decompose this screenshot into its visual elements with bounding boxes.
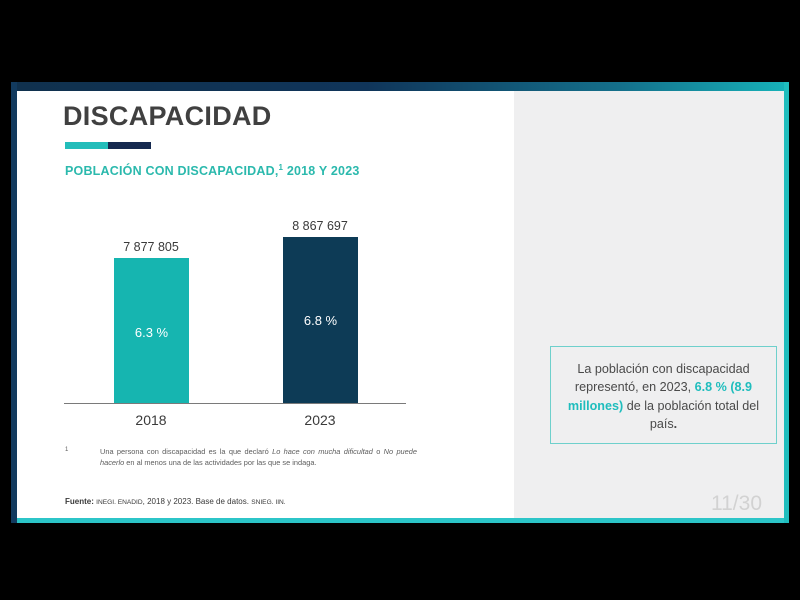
bar-percent-label-2023: 6.8 % <box>283 313 358 328</box>
bar-value-label-2023: 8 867 697 <box>265 219 375 233</box>
source-line: Fuente: INEGI. ENADID, 2018 y 2023. Base… <box>65 497 286 506</box>
x-axis-tick-2018: 2018 <box>96 412 206 428</box>
footnote-italic1: Lo hace con mucha dificultad <box>272 447 373 456</box>
source-label: Fuente: <box>65 497 94 506</box>
source-middle-text: , 2018 y 2023. Base de datos. <box>143 497 252 506</box>
slide-bottom-bar <box>17 518 789 523</box>
x-axis-tick-2023: 2023 <box>265 412 375 428</box>
x-axis-line <box>64 403 406 404</box>
bar-value-label-2018: 7 877 805 <box>96 240 206 254</box>
right-side-panel <box>514 91 789 518</box>
slide: DISCAPACIDAD POBLACIÓN CON DISCAPACIDAD,… <box>11 82 789 523</box>
footnote-marker: 1 <box>65 446 68 455</box>
footnote-part1: Una persona con discapacidad es la que d… <box>100 447 272 456</box>
source-acronym-inegi-enadid: INEGI. ENADID <box>96 499 143 506</box>
bar-percent-label-2018: 6.3 % <box>114 325 189 340</box>
footnote: 1 Una persona con discapacidad es la que… <box>65 446 417 468</box>
callout-text: La población con discapacidad representó… <box>551 347 776 433</box>
callout-part3: . <box>674 417 678 431</box>
callout-part2: de la población total del país <box>623 399 759 431</box>
footnote-part3: en al menos una de las actividades por l… <box>124 458 316 467</box>
source-acronym-snieg-iin: SNIEG. IIN. <box>251 499 285 506</box>
callout-box: La población con discapacidad representó… <box>550 346 777 444</box>
footnote-text: Una persona con discapacidad es la que d… <box>100 446 417 468</box>
footnote-part2: o <box>373 447 384 456</box>
page-number: 11/30 <box>711 492 762 516</box>
bar-chart: 7 877 805 8 867 697 6.3 % 6.8 % 2018 202… <box>17 82 514 509</box>
